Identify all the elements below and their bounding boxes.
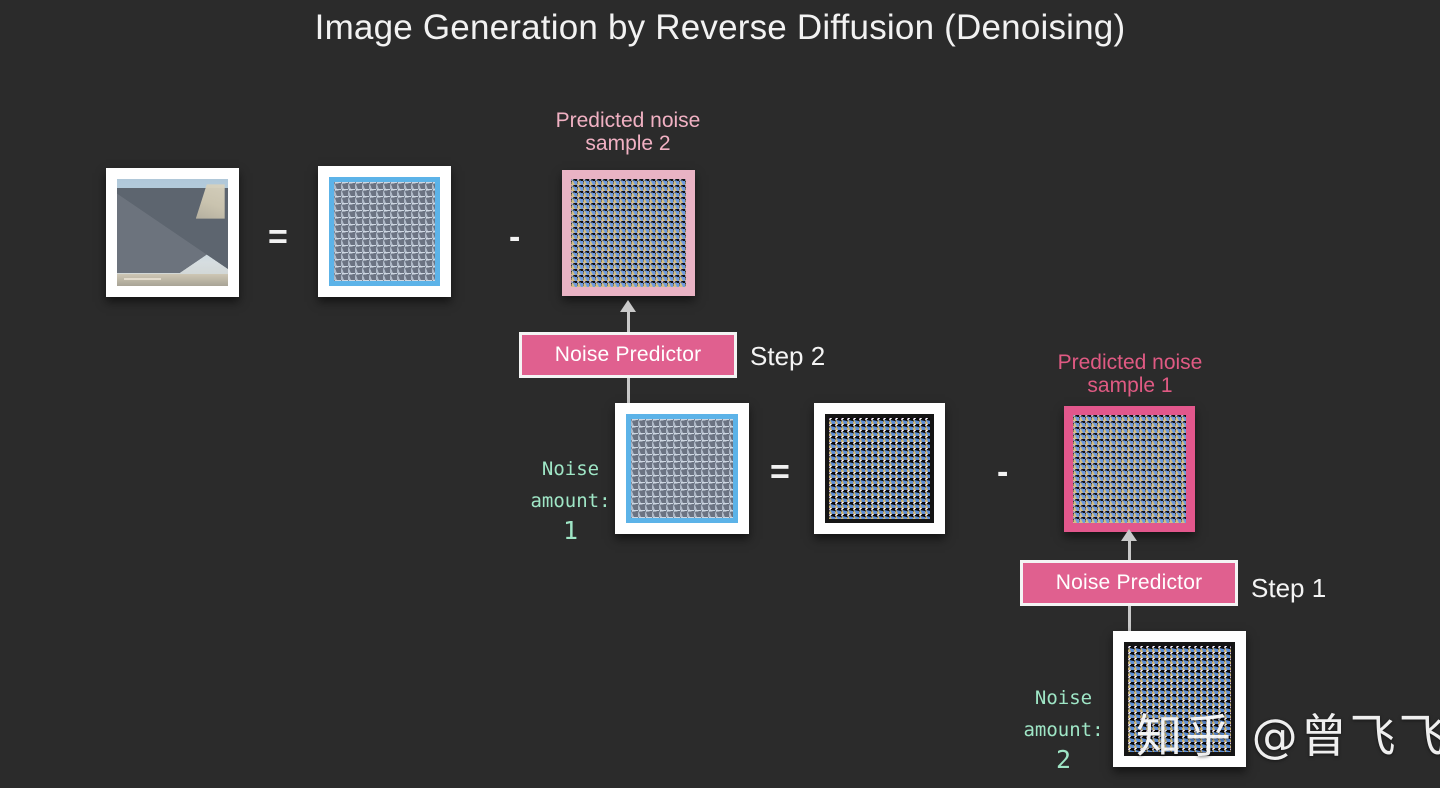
noise-amount-value: 2 [1006, 746, 1121, 774]
connector-line-predictor-to-noise-step2 [627, 310, 630, 334]
pyramid-ground [117, 274, 228, 286]
noise-amount-text: Noise amount: [530, 458, 610, 511]
equals-operator-step2: = [268, 220, 288, 254]
noise-canvas-pink-strong [1064, 406, 1195, 532]
noise-amount-value: 1 [513, 517, 628, 545]
arrowhead-up-step1 [1121, 529, 1137, 541]
noise-amount-step2: Noise amount: 1 [513, 423, 628, 576]
heavy-noise-image-step1 [814, 403, 945, 534]
noise-canvas-dark-mid [825, 414, 934, 523]
noise-texture [1128, 646, 1231, 752]
noise-texture [571, 179, 686, 287]
equals-operator-step1: = [770, 455, 790, 489]
noise-texture [1073, 415, 1186, 523]
noise-canvas-blue-mid [626, 414, 738, 523]
noise-amount-text: Noise amount: [1023, 687, 1103, 740]
arrowhead-up-step2 [620, 300, 636, 312]
predicted-noise-image-step2 [562, 170, 695, 296]
noise-texture [631, 419, 733, 518]
predicted-noise-label-step2: Predicted noise sample 2 [528, 110, 728, 155]
noise-canvas-blue-top [329, 177, 440, 286]
noise-canvas-pink-light [562, 170, 695, 296]
noise-amount-step1: Noise amount: 2 [1006, 652, 1121, 788]
noise-texture [829, 418, 930, 519]
connector-line-input-to-predictor-step1 [1128, 606, 1131, 632]
pure-noise-input-image [1113, 631, 1246, 767]
noised-image-step2-top [318, 166, 451, 297]
step-label-1: Step 1 [1251, 573, 1326, 604]
ground-strip [124, 278, 162, 281]
minus-operator-step2: - [509, 220, 520, 254]
noise-predictor-box-step2[interactable]: Noise Predictor [519, 332, 737, 378]
pyramid-photo [117, 179, 228, 286]
noise-texture [334, 182, 435, 281]
noise-predictor-label: Noise Predictor [1056, 571, 1203, 595]
step-label-2: Step 2 [750, 341, 825, 372]
noised-image-step1-output [615, 403, 749, 534]
predicted-noise-image-step1 [1064, 406, 1195, 532]
connector-line-predictor-to-noise-step1 [1128, 539, 1131, 562]
minus-operator-step1: - [997, 455, 1008, 489]
clean-output-image-step2 [106, 168, 239, 297]
diagram-canvas: Image Generation by Reverse Diffusion (D… [0, 0, 1440, 788]
pyramid-photo-content [117, 179, 228, 286]
noise-canvas-dark-bottom [1124, 642, 1235, 756]
predicted-noise-label-step1: Predicted noise sample 1 [1030, 352, 1230, 397]
noise-predictor-label: Noise Predictor [555, 343, 702, 367]
page-title: Image Generation by Reverse Diffusion (D… [0, 8, 1440, 48]
noise-predictor-box-step1[interactable]: Noise Predictor [1020, 560, 1238, 606]
